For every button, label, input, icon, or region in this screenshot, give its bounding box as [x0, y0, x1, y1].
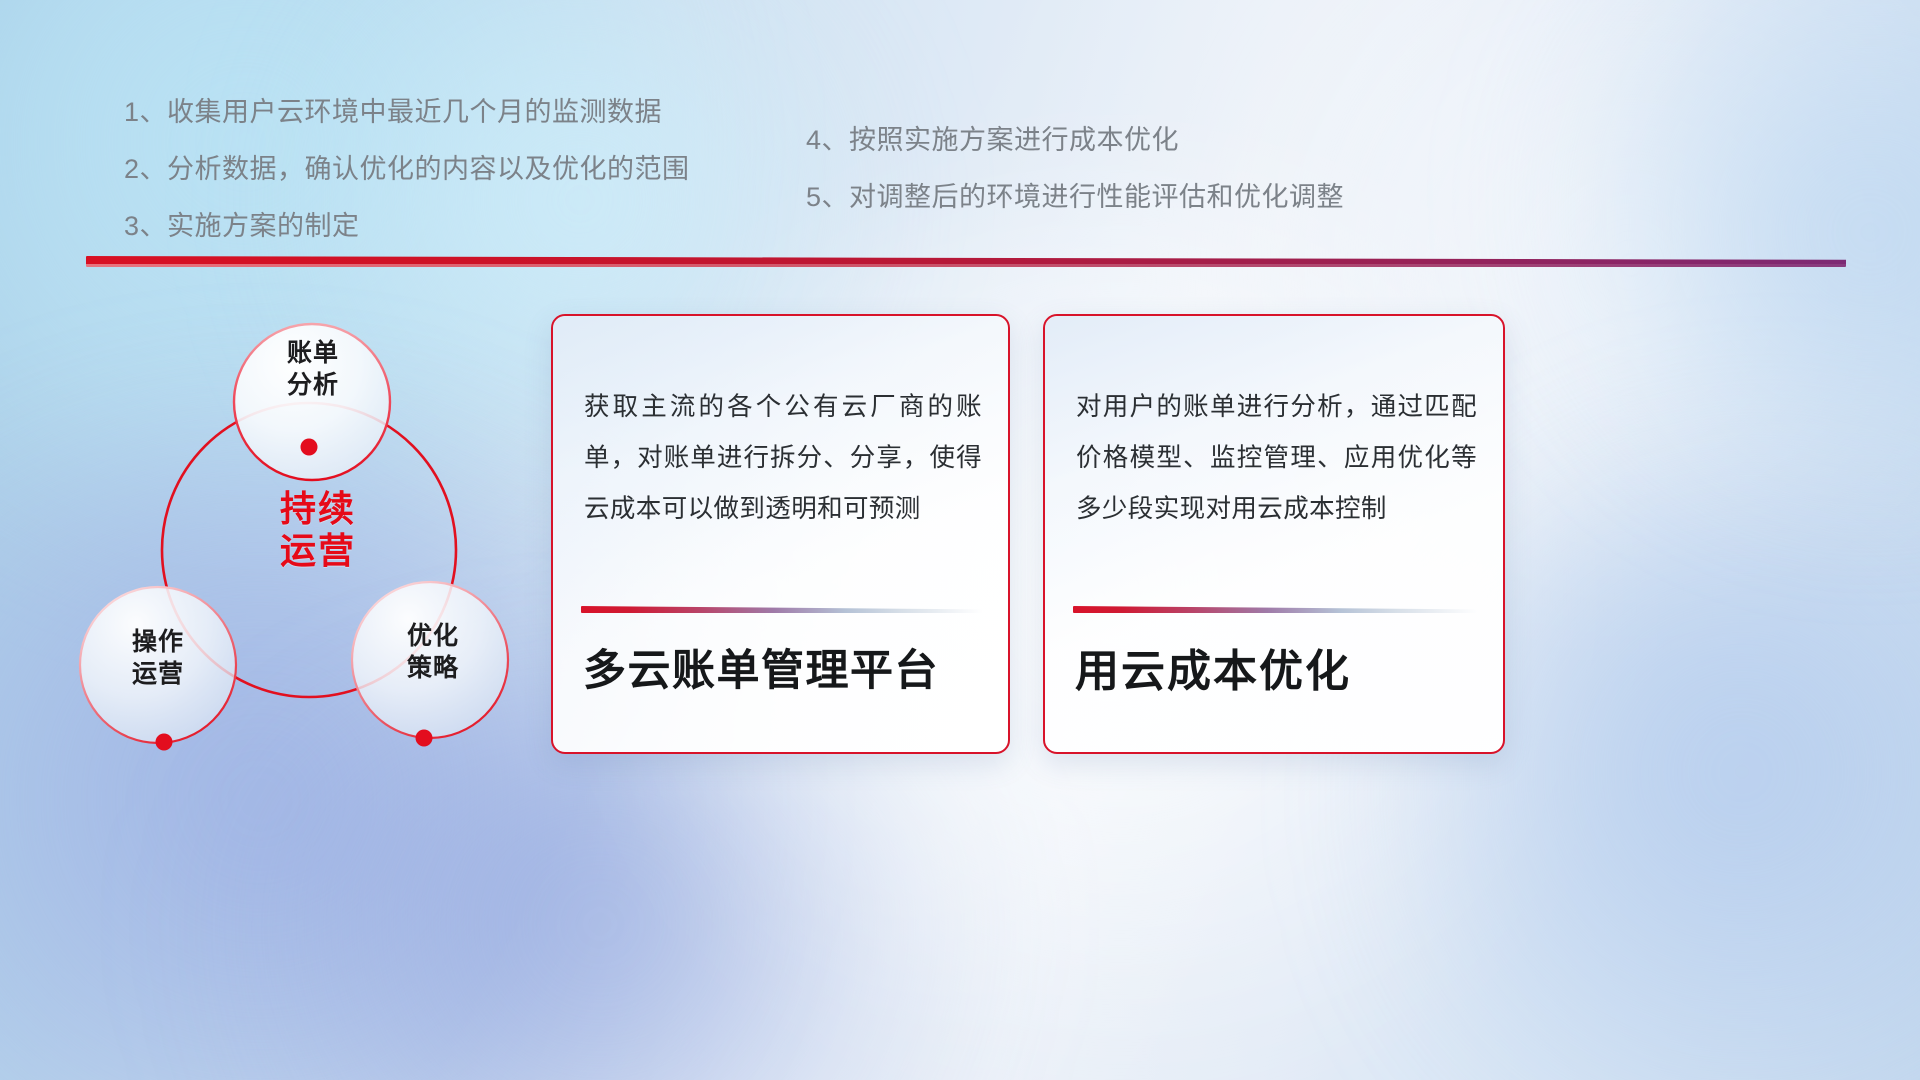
- card-2-divider-wedge: [1073, 606, 1477, 613]
- card-1-title: 多云账单管理平台: [583, 646, 988, 698]
- venn-label-operation: 操作 运营: [98, 626, 218, 690]
- card-1-body: 获取主流的各个公有云厂商的账单，对账单进行拆分、分享，使得云成本可以做到透明和可…: [584, 382, 982, 535]
- venn-left-line-1: 操作: [98, 626, 218, 658]
- divider-highlight: [86, 264, 1846, 267]
- venn-node-left: [156, 734, 173, 751]
- step-item-4: 4、按照实施方案进行成本优化: [806, 127, 1344, 154]
- feature-card-cost-optimization[interactable]: 对用户的账单进行分析，通过匹配价格模型、监控管理、应用优化等多少段实现对用云成本…: [1043, 314, 1505, 754]
- venn-label-bill-analysis: 账单 分析: [253, 337, 373, 401]
- step-item-1: 1、收集用户云环境中最近几个月的监测数据: [124, 99, 690, 126]
- venn-center-line-1: 持续: [258, 488, 378, 530]
- venn-top-line-2: 分析: [253, 369, 373, 401]
- venn-label-optimization-strategy: 优化 策略: [373, 620, 493, 684]
- venn-right-line-2: 策略: [373, 652, 493, 684]
- step-item-3: 3、实施方案的制定: [124, 213, 690, 240]
- card-1-divider-wedge: [581, 606, 982, 613]
- card-2-body: 对用户的账单进行分析，通过匹配价格模型、监控管理、应用优化等多少段实现对用云成本…: [1076, 382, 1477, 535]
- venn-right-line-1: 优化: [373, 620, 493, 652]
- card-2-title: 用云成本优化: [1075, 646, 1483, 699]
- card-1-divider: [581, 606, 982, 613]
- feature-card-multicloud-billing[interactable]: 获取主流的各个公有云厂商的账单，对账单进行拆分、分享，使得云成本可以做到透明和可…: [551, 314, 1010, 754]
- steps-right-column: 4、按照实施方案进行成本优化 5、对调整后的环境进行性能评估和优化调整: [806, 127, 1344, 241]
- venn-node-right: [416, 730, 433, 747]
- venn-left-line-2: 运营: [98, 658, 218, 690]
- step-item-2: 2、分析数据，确认优化的内容以及优化的范围: [124, 156, 690, 183]
- continuous-operation-diagram: 持续 运营 账单 分析 操作 运营 优化 策略: [78, 290, 548, 780]
- venn-node-top: [301, 439, 318, 456]
- venn-top-line-1: 账单: [253, 337, 373, 369]
- step-item-5: 5、对调整后的环境进行性能评估和优化调整: [806, 184, 1344, 211]
- venn-center-line-2: 运营: [258, 530, 378, 572]
- slide-canvas: 1、收集用户云环境中最近几个月的监测数据 2、分析数据，确认优化的内容以及优化的…: [0, 0, 1920, 1080]
- steps-left-column: 1、收集用户云环境中最近几个月的监测数据 2、分析数据，确认优化的内容以及优化的…: [124, 99, 690, 270]
- venn-label-center: 持续 运营: [258, 488, 378, 573]
- card-2-divider: [1073, 606, 1477, 613]
- section-divider: [86, 256, 1846, 267]
